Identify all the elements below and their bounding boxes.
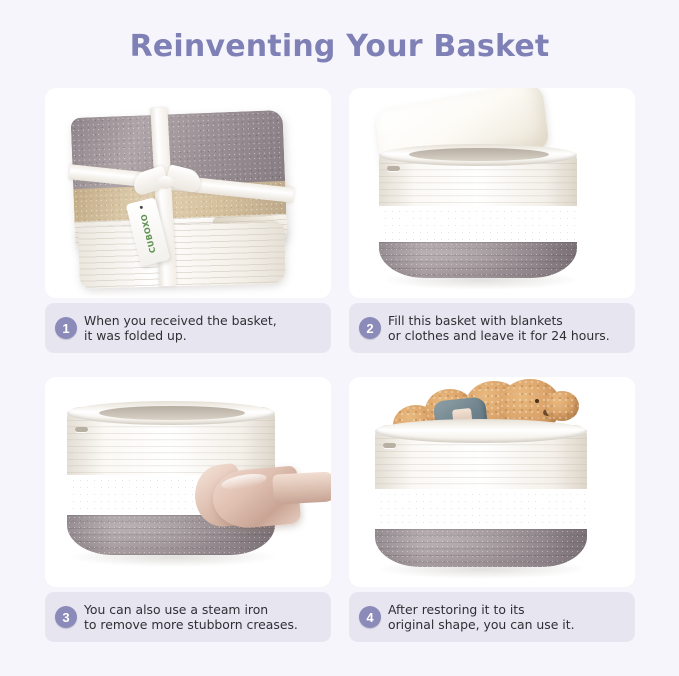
step-2-photo [349,88,635,298]
tan-speckle-4 [375,489,587,529]
step-card-2: 2 Fill this basket with blankets or clot… [349,88,635,353]
basket-2-tan-band [379,206,577,242]
step-4-caption: 4 After restoring it to its original sha… [349,592,635,642]
basket-3-rim-inner [99,406,245,420]
step-1-line-1: When you received the basket, [84,313,277,329]
step-3-caption: 3 You can also use a steam iron to remov… [45,592,331,642]
teddy-bear-ear [545,391,579,421]
step-4-photo [349,377,635,587]
gray-speckle-2 [379,242,577,278]
basket-4-tan-band [375,489,587,529]
step-1-caption: 1 When you received the basket, it was f… [45,303,331,353]
folded-bottom-panel [78,221,286,288]
step-4-text: After restoring it to its original shape… [388,602,575,633]
rope-basket-2 [379,150,577,278]
step-number-badge-2: 2 [359,317,381,339]
basket-3-handle-slot [75,427,88,432]
tan-speckle-2 [379,206,577,242]
step-card-4: 4 After restoring it to its original sha… [349,377,635,642]
step-2-line-2: or clothes and leave it for 24 hours. [388,328,610,344]
step-4-line-1: After restoring it to its [388,602,575,618]
step-3-line-1: You can also use a steam iron [84,602,298,618]
step-card-1: CUBOXO 1 When you received the basket, i… [45,88,331,353]
step-3-line-2: to remove more stubborn creases. [84,617,298,633]
step-1-photo: CUBOXO [45,88,331,298]
steps-grid: CUBOXO 1 When you received the basket, i… [45,88,635,642]
step-4-line-2: original shape, you can use it. [388,617,575,633]
step-3-text: You can also use a steam iron to remove … [84,602,298,633]
basket-2-handle-slot [387,166,400,171]
step-number-badge-3: 3 [55,606,77,628]
bear-fur-texture-5 [545,391,579,421]
rope-basket-4 [375,425,587,567]
hang-tag-brand-text: CUBOXO [138,209,158,258]
basket-2-gray-band [379,242,577,278]
step-number-badge-1: 1 [55,317,77,339]
gray-speckle-4 [375,529,587,567]
bow-knot [158,176,173,189]
folded-basket-illustration: CUBOXO [63,108,313,283]
basket-4-handle-slot [383,443,396,448]
hang-tag-hole [140,206,144,210]
step-2-caption: 2 Fill this basket with blankets or clot… [349,303,635,353]
step-1-text: When you received the basket, it was fol… [84,313,277,344]
teddy-bear-eye [535,399,539,403]
step-3-photo [45,377,331,587]
step-card-3: 3 You can also use a steam iron to remov… [45,377,331,642]
basket-4-gray-band [375,529,587,567]
basket-2-rim-inner [409,148,549,161]
steam-iron-handle [272,471,331,504]
page-title: Reinventing Your Basket [0,29,679,64]
step-number-badge-4: 4 [359,606,381,628]
step-2-line-1: Fill this basket with blankets [388,313,610,329]
step-1-line-2: it was folded up. [84,328,277,344]
infographic-page: Reinventing Your Basket [0,0,679,676]
step-2-text: Fill this basket with blankets or clothe… [388,313,610,344]
basket-4-rim [375,419,587,443]
